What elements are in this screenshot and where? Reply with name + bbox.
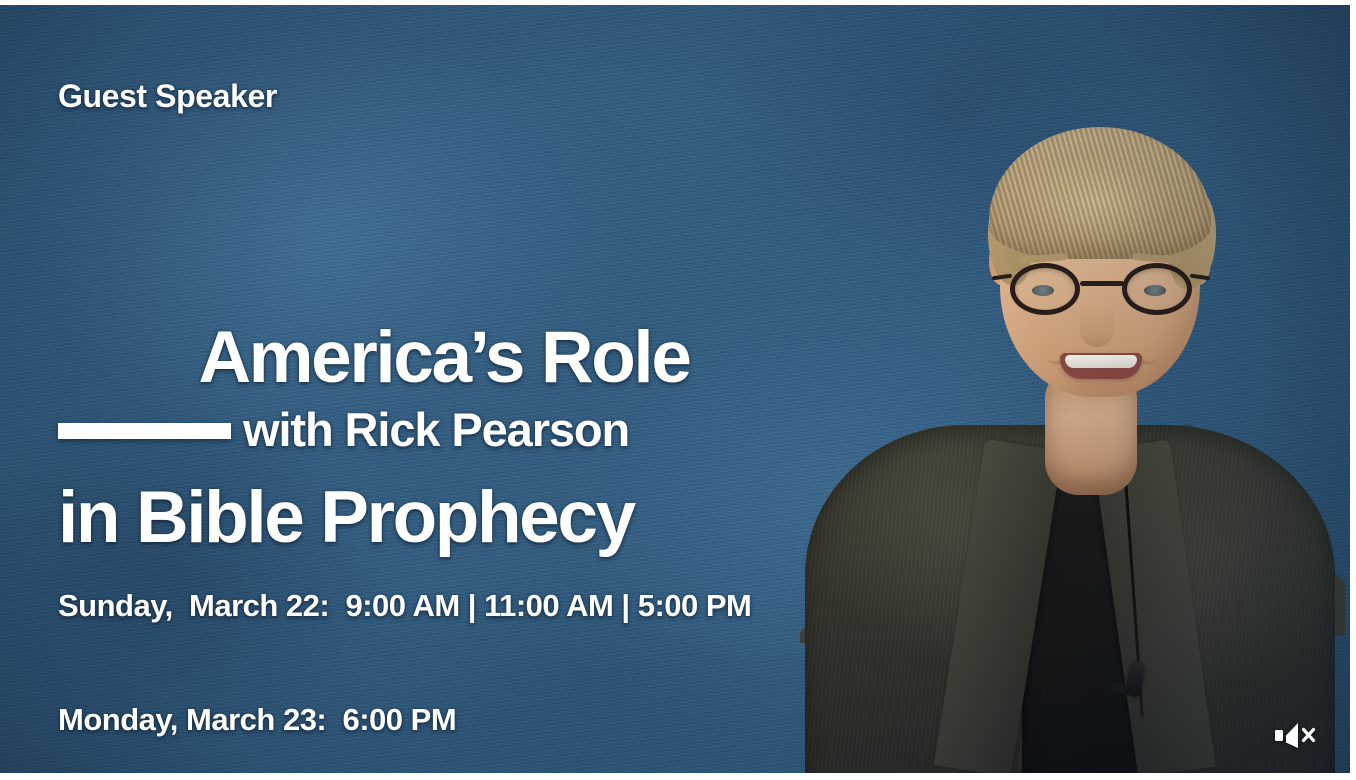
smiling-mouth: [1060, 353, 1142, 379]
video-surface[interactable]: Guest Speaker America’s Role in Bible Pr…: [0, 5, 1350, 773]
glasses-right-lens: [1122, 263, 1192, 315]
glasses-left-lens: [1010, 263, 1080, 315]
chin-shadow: [1056, 383, 1144, 403]
speaker-portrait: [760, 95, 1350, 773]
nose: [1080, 303, 1114, 347]
hair: [989, 127, 1211, 259]
mute-button[interactable]: [1268, 713, 1326, 757]
speaker-mute-icon: [1272, 719, 1322, 751]
video-player[interactable]: Guest Speaker America’s Role in Bible Pr…: [0, 0, 1356, 780]
glasses-bridge: [1080, 281, 1124, 286]
teeth: [1065, 355, 1137, 368]
